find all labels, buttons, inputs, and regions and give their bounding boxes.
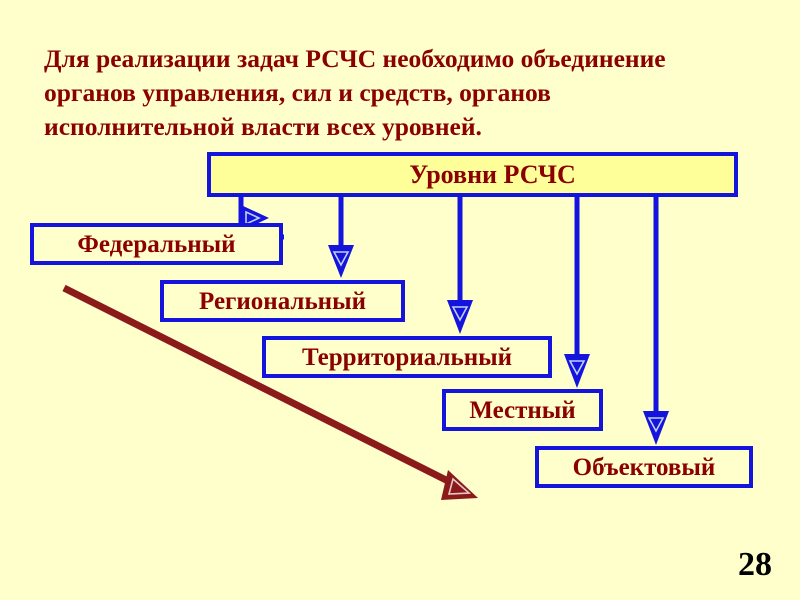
level-box-federal[interactable]: Федеральный — [30, 223, 283, 265]
connector-regional — [328, 197, 354, 278]
level-label-regional: Региональный — [199, 289, 366, 314]
level-label-federal: Федеральный — [77, 232, 235, 257]
level-box-territorial[interactable]: Территориальный — [262, 336, 552, 378]
level-label-object: Объектовый — [573, 455, 716, 480]
level-box-local[interactable]: Местный — [442, 389, 603, 431]
connector-object — [643, 197, 669, 445]
connector-territorial — [447, 197, 473, 334]
level-label-local: Местный — [469, 398, 575, 423]
level-label-territorial: Территориальный — [302, 345, 512, 370]
diagram-title-label: Уровни РСЧС — [409, 162, 575, 188]
level-box-object[interactable]: Объектовый — [535, 446, 753, 488]
slide-canvas: Для реализации задач РСЧС необходимо объ… — [0, 0, 800, 600]
connector-local — [564, 197, 590, 388]
diagram-title-box[interactable]: Уровни РСЧС — [207, 152, 738, 197]
page-number: 28 — [738, 548, 772, 582]
level-box-regional[interactable]: Региональный — [160, 280, 405, 322]
